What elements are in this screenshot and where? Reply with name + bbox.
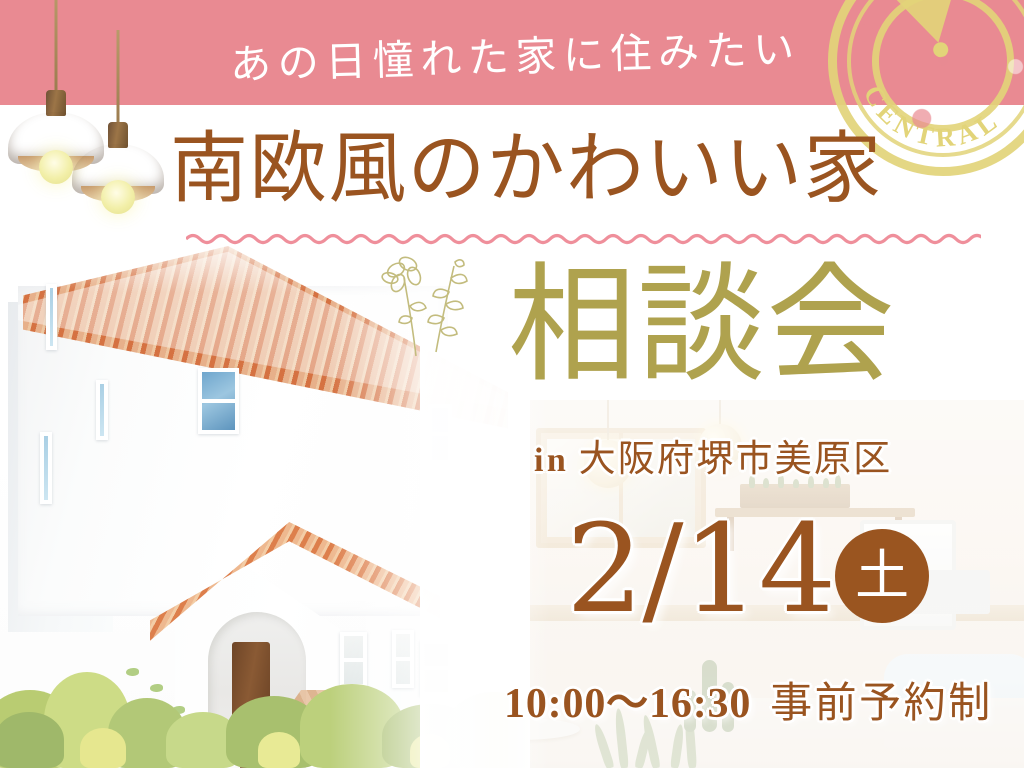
window	[96, 380, 108, 440]
window	[198, 368, 239, 434]
poster-canvas: あの日憧れた家に住みたい CENTRAL	[0, 0, 1024, 768]
event-location: in大阪府堺市美原区	[534, 428, 892, 482]
event-date: 2/14 土	[566, 508, 929, 630]
botanical-sprig-icon	[368, 252, 488, 372]
window	[40, 432, 52, 504]
event-heading: 相談会	[508, 262, 896, 390]
page-title: 南欧風のかわいい家	[170, 130, 990, 208]
location-name: 大阪府堺市美原区	[579, 437, 893, 480]
wavy-underline	[186, 230, 981, 246]
pendant-lamp-icon	[72, 30, 164, 230]
reservation-note: 事前予約制	[770, 678, 993, 727]
day-of-week-badge: 土	[835, 529, 929, 623]
location-prefix: in	[534, 442, 569, 479]
event-hours: 10:00〜16:30	[504, 681, 751, 727]
event-schedule: 10:00〜16:30事前予約制	[504, 682, 993, 725]
event-date-number: 2/14	[566, 508, 835, 630]
garden-hedge	[0, 628, 530, 768]
window	[46, 284, 57, 350]
window	[428, 404, 452, 464]
